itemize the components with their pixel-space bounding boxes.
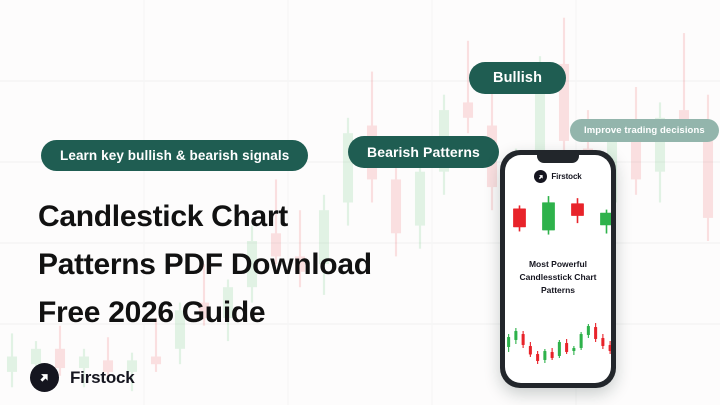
phone-notch <box>537 155 579 163</box>
phone-caption: Most Powerful Candlesstick Chart Pattern… <box>509 258 607 297</box>
page-title: Candlestick Chart Patterns PDF Download … <box>38 193 458 337</box>
arrow-up-right-icon <box>534 170 547 183</box>
headline-line-3: Free 2026 Guide <box>38 289 458 337</box>
badge-bearish-patterns[interactable]: Bearish Patterns <box>348 136 499 168</box>
headline-line-2: Patterns PDF Download <box>38 241 458 289</box>
phone-caption-line-1: Most Powerful <box>509 258 607 271</box>
brand-name: Firstock <box>70 368 135 388</box>
arrow-up-right-icon <box>30 363 59 392</box>
phone-brand-logo: Firstock <box>505 170 611 183</box>
phone-screen: Firstock Most Powerful Candlesstick Char… <box>505 155 611 383</box>
phone-hero-candlestick-chart <box>505 191 611 249</box>
headline-line-1: Candlestick Chart <box>38 193 458 241</box>
hero-banner: Learn key bullish & bearish signals Bull… <box>0 0 720 405</box>
badge-improve-trading-decisions[interactable]: Improve trading decisions <box>570 119 719 142</box>
phone-brand-name: Firstock <box>551 172 581 181</box>
phone-caption-line-3: Patterns <box>509 284 607 297</box>
badge-learn-signals[interactable]: Learn key bullish & bearish signals <box>41 140 308 171</box>
brand-logo[interactable]: Firstock <box>30 363 135 392</box>
phone-mockup: Firstock Most Powerful Candlesstick Char… <box>500 150 616 388</box>
badge-bullish[interactable]: Bullish <box>469 62 566 94</box>
phone-bottom-candlestick-chart <box>505 317 611 375</box>
phone-caption-line-2: Candlesstick Chart <box>509 271 607 284</box>
